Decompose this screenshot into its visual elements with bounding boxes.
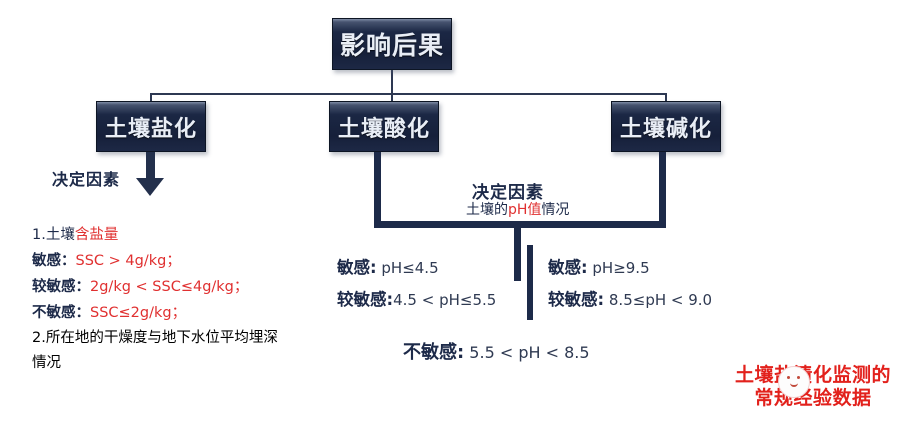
left-item-2: 2.所在地的干燥度与地下水位平均埋深情况 [32, 326, 292, 376]
left-branch-content: 1.土壤含盐量 敏感：SSC > 4g/kg； 较敏感：2g/kg < SSC≤… [32, 222, 292, 376]
factor-sub-prefix: 土壤的 [466, 202, 508, 218]
left-item-2-prefix: 2.所在地的 [32, 330, 104, 346]
alkali-row-moderately-sensitive-key: 较敏感: [548, 290, 604, 309]
alkali-row-moderately-sensitive-value: 8.5≤pH < 9.0 [609, 291, 712, 309]
watermark-line-1: 土壤盐渍化监测的 [728, 364, 898, 387]
watermark: 土壤盐渍化监测的 常规经验数据 [728, 364, 898, 410]
alkali-row-sensitive-value: pH≥9.5 [592, 259, 649, 277]
left-item-1: 1.土壤含盐量 [32, 222, 292, 248]
ph-insensitive-value: 5.5 < pH < 8.5 [469, 343, 589, 362]
acid-row-sensitive-value: pH≤4.5 [381, 259, 438, 277]
node-root[interactable]: 影响后果 [332, 18, 452, 70]
left-row-sensitive: 敏感：SSC > 4g/kg； [32, 248, 292, 274]
ph-insensitive-key: 不敏感: [403, 342, 464, 363]
alkalization-criteria: 敏感: pH≥9.5 较敏感: 8.5≤pH < 9.0 [548, 252, 712, 316]
bracket-right-leg [659, 152, 666, 228]
left-row-insensitive-value: SSC≤2g/kg； [90, 305, 186, 321]
smiley-eye-right [797, 376, 800, 379]
left-determining-factor-label: 决定因素 [52, 166, 120, 190]
column-divider [527, 245, 533, 320]
factor-sub-suffix: 情况 [541, 202, 569, 218]
bracket-bottom-bar [374, 221, 666, 228]
left-row-moderately-sensitive: 较敏感：2g/kg < SSC≤4g/kg； [32, 274, 292, 300]
acid-row-moderately-sensitive: 较敏感:4.5 < pH≤5.5 [337, 284, 496, 316]
middle-determining-factor-sublabel: 土壤的pH值情况 [466, 199, 569, 219]
node-soil-acidification[interactable]: 土壤酸化 [329, 101, 439, 152]
alkali-row-sensitive-key: 敏感: [548, 258, 588, 277]
smiley-face-icon-features [786, 376, 802, 386]
factor-sub-highlight: pH值 [508, 202, 541, 218]
node-root-label: 影响后果 [340, 26, 444, 62]
bracket-left-leg [374, 152, 381, 228]
smiley-mouth [790, 381, 798, 387]
node-soil-salinization-label: 土壤盐化 [105, 111, 197, 143]
node-soil-alkalization[interactable]: 土壤碱化 [611, 101, 721, 152]
left-row-insensitive-key: 不敏感： [32, 305, 90, 321]
diagram-canvas: 影响后果 土壤盐化 土壤酸化 土壤碱化 决定因素 1.土壤含盐量 敏感：SSC … [0, 0, 908, 434]
left-item-2-highlight: 干燥度与地下水位平均埋深 [104, 330, 278, 346]
watermark-line-2: 常规经验数据 [728, 387, 898, 410]
smiley-eye-left [787, 376, 790, 379]
connector-root-trunk [391, 70, 393, 94]
node-soil-acidification-label: 土壤酸化 [338, 111, 430, 143]
acid-row-moderately-sensitive-key: 较敏感: [337, 290, 393, 309]
acid-row-moderately-sensitive-value: 4.5 < pH≤5.5 [393, 291, 496, 309]
left-row-moderately-sensitive-key: 较敏感： [32, 279, 90, 295]
alkali-row-sensitive: 敏感: pH≥9.5 [548, 252, 712, 284]
alkali-row-moderately-sensitive: 较敏感: 8.5≤pH < 9.0 [548, 284, 712, 316]
acid-row-sensitive-key: 敏感: [337, 258, 377, 277]
connector-horizontal-bar [150, 93, 667, 95]
smiley-face-logo-icon [778, 366, 810, 398]
node-soil-salinization[interactable]: 土壤盐化 [96, 101, 206, 152]
left-row-sensitive-value: SSC > 4g/kg； [76, 253, 181, 269]
acid-row-sensitive: 敏感: pH≤4.5 [337, 252, 496, 284]
bracket-center-stem [514, 228, 521, 281]
left-item-2-suffix: 情况 [32, 355, 61, 371]
left-row-moderately-sensitive-value: 2g/kg < SSC≤4g/kg； [90, 279, 248, 295]
left-item-1-prefix: 1.土壤 [32, 227, 75, 243]
left-item-1-highlight: 含盐量 [75, 227, 119, 243]
left-row-insensitive: 不敏感：SSC≤2g/kg； [32, 300, 292, 326]
acidification-criteria: 敏感: pH≤4.5 较敏感:4.5 < pH≤5.5 [337, 252, 496, 316]
ph-insensitive-row: 不敏感: 5.5 < pH < 8.5 [403, 338, 590, 364]
down-arrow-icon-head [136, 178, 164, 196]
left-row-sensitive-key: 敏感： [32, 253, 76, 269]
node-soil-alkalization-label: 土壤碱化 [620, 111, 712, 143]
